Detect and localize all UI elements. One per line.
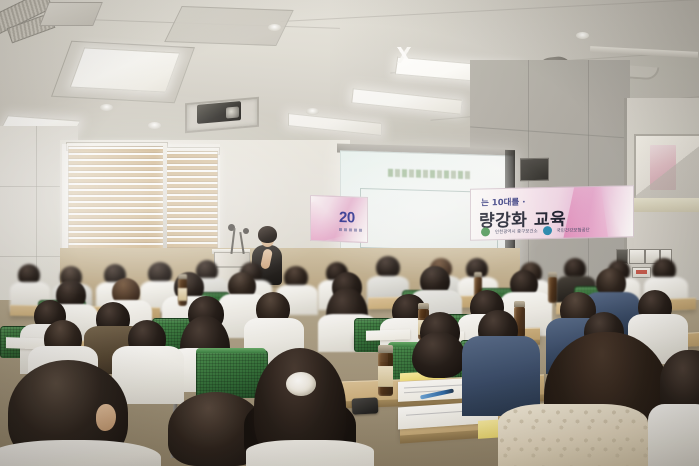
presenter-hair [258, 226, 277, 243]
ceiling-projector [185, 96, 255, 130]
foreground-person-top [498, 404, 648, 466]
ceiling-downlight [306, 108, 319, 115]
handout [366, 329, 410, 341]
chair-headrail [196, 348, 266, 353]
ceiling-light-panel [70, 47, 181, 92]
ceiling-downlight [148, 122, 161, 129]
banner-left: 20 [310, 195, 368, 243]
banner-right: 는 10대를 · 량강화 교육 인천광역시 중구보건소 국민건강보험공단 [470, 185, 634, 240]
foreground-person-shoulder [0, 440, 161, 466]
bottle-label [378, 366, 393, 387]
foreground-person-shoulder [246, 440, 374, 466]
window-blinds[interactable] [68, 146, 166, 256]
microphone-head-icon [243, 228, 249, 234]
banner-left-number: 20 [339, 209, 355, 227]
wall-mounted-display [520, 158, 549, 182]
bottle-cap [378, 345, 393, 353]
bottle-label [178, 288, 187, 301]
emergency-switch[interactable] [632, 267, 651, 278]
door-window-reflection [634, 134, 699, 200]
attendee-torso [648, 404, 699, 466]
bottle-cap [178, 274, 187, 279]
bottle-cap [474, 272, 482, 277]
ceiling-downlight [268, 24, 281, 31]
ceiling-downlight [100, 104, 113, 111]
bottle-cap [514, 301, 525, 307]
ceiling-downlight [576, 32, 589, 39]
ac-diffuser [39, 2, 103, 26]
corridor-counter [634, 198, 699, 212]
sponsor-name-1: 인천광역시 중구보건소 [495, 228, 538, 235]
sponsor-logo-icon [481, 227, 490, 236]
window-mullion [163, 146, 167, 256]
sponsor-logo-icon [543, 226, 552, 235]
window-blinds[interactable] [166, 151, 218, 253]
attendee-hair [412, 332, 466, 378]
sponsor-name-2: 국민건강보험공단 [557, 227, 590, 234]
lecture-hall-photo: 20 는 10대를 · 량강화 교육 인천광역시 중구보건소 국민건강보험공단 [0, 0, 699, 466]
bottle-cap [418, 303, 429, 309]
projector-lens-icon [226, 106, 239, 118]
water-bottle [548, 276, 557, 303]
ceiling-cross-marker [393, 47, 415, 63]
smartphone[interactable] [352, 397, 379, 414]
bottle-cap [548, 272, 557, 277]
hair-scrunchie [286, 372, 316, 396]
